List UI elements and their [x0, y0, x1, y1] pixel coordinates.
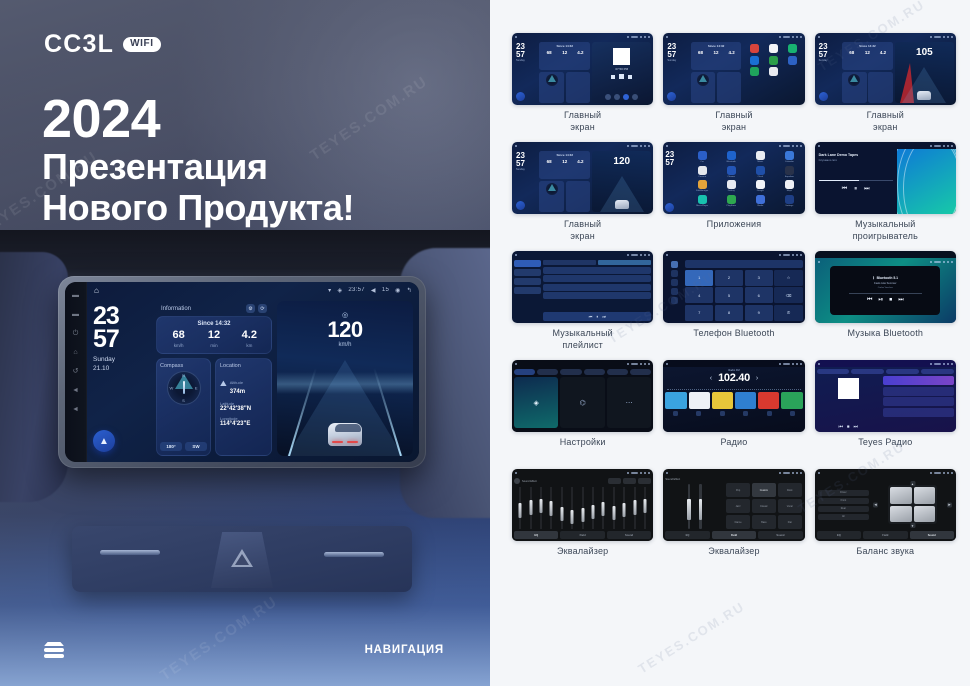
speed-value: 105: [895, 47, 954, 58]
preset-pop[interactable]: Pop: [726, 483, 750, 497]
trip-value: 4.2: [232, 330, 267, 341]
back-icon: [665, 203, 674, 212]
widgets-column: Information ⚙ ⟳ Since 14:32 68: [156, 301, 272, 456]
eq-tabs[interactable]: EQ Field Sound: [514, 531, 651, 539]
gallery-caption: Главныйэкран: [715, 110, 752, 135]
altitude-row: ⛰ Altitude 374m: [220, 371, 267, 397]
list-item[interactable]: [543, 284, 651, 291]
brand-lockup: CC3L WIFI: [44, 32, 161, 57]
wifi-badge: WIFI: [123, 37, 161, 52]
dash-vent-panel: [72, 526, 412, 592]
wifi-icon: ◈: [337, 287, 342, 294]
wifi-icon[interactable]: ◈: [514, 377, 558, 428]
eq-slider[interactable]: [641, 487, 649, 529]
tab-field[interactable]: Field: [560, 531, 604, 539]
volume-value: 15: [382, 287, 389, 293]
previous-icon[interactable]: ⏮: [867, 297, 872, 304]
hazard-triangle-inner-icon: [235, 554, 249, 565]
clock-widget[interactable]: 23 57 Sunday 21.10: [93, 305, 151, 373]
dialpad-key-7[interactable]: 7: [685, 305, 713, 321]
stop-icon[interactable]: ⏹: [889, 297, 892, 304]
preset-dance[interactable]: Dance: [726, 515, 750, 529]
mini-status-bar: [815, 33, 956, 40]
mini-status-bar: [815, 360, 956, 367]
compass-mark-s: S: [182, 398, 185, 403]
mini-status-bar: [512, 469, 653, 476]
hotspot-icon[interactable]: ⌬: [560, 377, 604, 428]
gallery-caption: Музыка Bluetooth: [848, 328, 924, 353]
screen-body: 23 57 Sunday 21.10 ▲ Information: [87, 298, 419, 462]
gallery-caption: Телефон Bluetooth: [693, 328, 774, 353]
mini-status-bar: [815, 258, 956, 265]
bluetooth-icon: ᛒ: [873, 276, 875, 280]
dialpad-key-4[interactable]: 4: [685, 287, 713, 303]
list-item[interactable]: [543, 292, 651, 299]
preset-bass[interactable]: Bass: [752, 515, 776, 529]
apps-widget: [743, 42, 802, 103]
gallery-caption: Эквалайзер: [708, 546, 759, 571]
preset-jazz[interactable]: Jazz: [726, 499, 750, 513]
pause-icon[interactable]: ⏸: [596, 314, 598, 319]
seat-front-left-icon: [890, 487, 911, 503]
play-icon[interactable]: ⏯: [878, 297, 883, 304]
seat-rear-right-icon: [914, 506, 935, 522]
previous-icon[interactable]: ⏮: [838, 424, 843, 430]
phone-number-field[interactable]: [685, 260, 802, 268]
page-title: 2024 Презентация Нового Продукта!: [42, 92, 354, 228]
gallery-item[interactable]: 2357Sunday Since 14:3268124.2 105 Главны…: [815, 33, 956, 135]
next-icon[interactable]: ⏭: [602, 314, 606, 319]
track-title: Feels Like Summer: [874, 282, 896, 285]
preset[interactable]: [712, 392, 733, 409]
search-icon[interactable]: [696, 411, 701, 416]
tab-display[interactable]: [560, 369, 581, 375]
arrow-down-icon[interactable]: ▼: [910, 523, 915, 528]
status-time: 23:57: [348, 287, 365, 293]
app-icon: [785, 180, 794, 189]
screenshot-home-nav[interactable]: 2357Sunday Since 14:3268124.2 120: [512, 142, 653, 214]
eq-band-sliders[interactable]: [514, 484, 651, 531]
app-icon: [756, 180, 765, 189]
mini-status-bar: [512, 142, 653, 149]
tab-apps[interactable]: [584, 369, 605, 375]
car-avatar-icon: [615, 200, 629, 209]
vent-slat: [324, 552, 384, 557]
radio-frequency: 102.40: [718, 372, 750, 384]
dialpad-key-8[interactable]: 8: [715, 305, 743, 321]
camera-icon[interactable]: ◉: [395, 287, 401, 294]
gallery-caption: Главныйэкран: [564, 219, 601, 244]
arrow-right-icon[interactable]: ▶: [947, 502, 952, 507]
preset-rear[interactable]: Rear: [818, 506, 869, 512]
phone-sidebar[interactable]: [665, 260, 683, 321]
mini-status-bar: [512, 33, 653, 40]
tab-field[interactable]: Field: [712, 531, 756, 539]
gear-icon[interactable]: ⚙: [246, 304, 255, 313]
list-item[interactable]: [543, 275, 651, 282]
screenshot-bt-music[interactable]: ᛒ Bluetooth 5.1 Feels Like Summer Carlos…: [815, 251, 956, 323]
compass-title: Compass: [160, 363, 207, 369]
compass-direction: SW: [185, 442, 207, 451]
app-icon: [756, 151, 765, 160]
compass-widget[interactable]: Compass N E S W: [156, 358, 211, 456]
app-icon: [750, 56, 759, 65]
compass-needle-icon: [183, 381, 185, 394]
rds-icon[interactable]: [767, 411, 772, 416]
mini-status-bar: [815, 142, 956, 149]
trip-stat: 12 min: [196, 330, 231, 348]
teyes-radio-tabs[interactable]: [817, 369, 954, 374]
eq-slider[interactable]: [526, 487, 534, 529]
screenshot-settings[interactable]: ◈ ⌬ ⋯: [512, 360, 653, 432]
app-icon: [727, 166, 736, 175]
home-icon[interactable]: ⌂: [71, 348, 80, 357]
tab-about[interactable]: [630, 369, 651, 375]
watermark: TEYES.COM.RU: [635, 599, 747, 677]
gallery-item[interactable]: Dark Lane Demo Tapes Слушаю в сети ⏮ ⏸ ⏭: [815, 142, 956, 244]
navigation-icon: [667, 92, 676, 101]
trip-value: 12: [196, 330, 231, 341]
call-icon[interactable]: ✆: [774, 305, 802, 321]
app-icon: [769, 67, 778, 76]
chevron-right-icon[interactable]: ›: [756, 375, 758, 382]
settings-icon[interactable]: [790, 411, 795, 416]
back-icon[interactable]: ↰: [407, 287, 412, 294]
eq-slider[interactable]: [547, 487, 555, 529]
eq-icon[interactable]: [743, 411, 748, 416]
screenshot-music-playlist[interactable]: ⏮ ⏸ ⏭: [512, 251, 653, 323]
chevron-left-icon[interactable]: ‹: [710, 375, 712, 382]
mini-status-bar: [663, 33, 804, 40]
settings-tabs[interactable]: [514, 369, 651, 375]
eq-tabs[interactable]: EQ Field Sound: [817, 531, 954, 539]
album-art: [613, 48, 630, 65]
screenshot-home-nav-red[interactable]: 2357Sunday Since 14:3268124.2 105: [815, 33, 956, 105]
hardware-key-strip[interactable]: ▬ ▬ ⏻ ⌂ ↺ ◄ ◄: [65, 282, 87, 462]
preset-vocal[interactable]: Vocal: [778, 499, 802, 513]
track-artist: Carlos Vasches: [878, 287, 893, 289]
stop-icon[interactable]: ⏹: [847, 424, 850, 430]
gallery-item[interactable]: 2357Sunday Since 14:3268124.2 07:50 PM Г…: [512, 33, 653, 135]
next-icon[interactable]: ⏭: [898, 297, 903, 304]
clock-minutes: 57: [93, 328, 151, 351]
screenshot-equalizer-2[interactable]: Sound Effect Pop Custom Rock Jazz Classi…: [663, 469, 804, 541]
gallery-caption: Радио: [720, 437, 747, 462]
preset[interactable]: [689, 392, 710, 409]
gallery-item[interactable]: ⏮ ⏸ ⏭ Музыкальныйплейлист: [512, 251, 653, 353]
altitude-value: 374m: [230, 389, 245, 397]
latitude-row: Latitude 22°42'38"N: [220, 401, 267, 414]
gallery-item[interactable]: Driver Front Rear All: [815, 469, 956, 571]
speed-unit: km/h: [277, 342, 413, 348]
tab-field[interactable]: Field: [863, 531, 907, 539]
app-icon: [785, 151, 794, 160]
mute-icon[interactable]: ◄: [71, 405, 80, 414]
visualizer: [897, 149, 956, 214]
arrow-left-icon[interactable]: ◀: [873, 502, 878, 507]
radio-presets[interactable]: [665, 392, 802, 409]
dialpad[interactable]: 1 2 3 ☆ 4 5 6 ⌫ 7 8 9 ✆: [685, 270, 802, 322]
home-icon[interactable]: ⌂: [94, 286, 99, 295]
altitude-label: Altitude: [230, 380, 243, 385]
brand-name: CC3L: [44, 32, 114, 57]
trip-unit: km: [232, 343, 267, 348]
volume-icon: ◀: [371, 287, 376, 294]
bt-player-card: ᛒ Bluetooth 5.1 Feels Like Summer Carlos…: [830, 266, 940, 315]
head-unit-screen[interactable]: ⌂ ▾ ◈ 23:57 ◀ 15 ◉ ↰ 23: [87, 282, 419, 462]
preset-all[interactable]: All: [818, 514, 869, 520]
mountain-icon: ⛰: [220, 379, 227, 389]
app-icon: [698, 166, 707, 175]
screenshot-home-apps[interactable]: 2357Sunday Since 14:3268124.2: [663, 33, 804, 105]
screenshot-music-player[interactable]: Dark Lane Demo Tapes Слушаю в сети ⏮ ⏸ ⏭: [815, 142, 956, 214]
navigation-widget[interactable]: ◎ 120 km/h: [277, 301, 413, 456]
screenshot-bt-phone[interactable]: 1 2 3 ☆ 4 5 6 ⌫ 7 8 9 ✆: [663, 251, 804, 323]
gallery-caption: Музыкальныйплейлист: [552, 328, 612, 353]
tab-system[interactable]: [607, 369, 628, 375]
app-icon: [788, 56, 797, 65]
gallery-caption: Приложения: [707, 219, 762, 244]
volume-up-icon[interactable]: ▬: [71, 291, 80, 300]
list-item[interactable]: [883, 376, 954, 385]
clock-weekday: Sunday: [93, 355, 151, 364]
information-widget[interactable]: Information ⚙ ⟳ Since 14:32 68: [156, 301, 272, 354]
backspace-icon[interactable]: ⌫: [774, 287, 802, 303]
screenshot-teyes-radio[interactable]: ⏮ ⏹ ⏭: [815, 360, 956, 432]
preset-custom[interactable]: Custom: [752, 483, 776, 497]
gallery-caption: Баланс звука: [856, 546, 914, 571]
eq-slider[interactable]: [558, 487, 566, 529]
gallery-grid: 2357Sunday Since 14:3268124.2 07:50 PM Г…: [512, 33, 956, 571]
mic-icon[interactable]: ◄: [71, 386, 80, 395]
compass-dial: N E S W: [167, 371, 201, 405]
gallery-item[interactable]: 2357Sunday Since 14:3268124.2: [663, 33, 804, 135]
car-avatar-icon: [325, 419, 365, 449]
tab-sound[interactable]: Sound: [910, 531, 954, 539]
eq-tabs[interactable]: EQ Field Sound: [665, 531, 802, 539]
mini-status-bar: [663, 360, 804, 367]
balance-presets[interactable]: Driver Front Rear All: [818, 480, 869, 529]
head-unit: ▬ ▬ ⏻ ⌂ ↺ ◄ ◄ ⌂ ▾ ◈ 23:57 ◀: [58, 276, 426, 468]
favorite-icon[interactable]: ☆: [774, 270, 802, 286]
tab-sound[interactable]: Sound: [607, 531, 651, 539]
list-item[interactable]: [883, 387, 954, 396]
previous-icon[interactable]: ⏮: [589, 314, 593, 319]
app-icon: [756, 195, 765, 204]
eq-slider[interactable]: [568, 487, 576, 529]
screenshot-home-music[interactable]: 2357Sunday Since 14:3268124.2 07:50 PM: [512, 33, 653, 105]
tab-eq[interactable]: EQ: [514, 531, 558, 539]
power-icon[interactable]: ⏻: [71, 329, 80, 338]
app-icon: [750, 67, 759, 76]
head-unit-bezel: ▬ ▬ ⏻ ⌂ ↺ ◄ ◄ ⌂ ▾ ◈ 23:57 ◀: [65, 282, 419, 462]
hero-footer: НАВИГАЦИЯ: [0, 642, 490, 658]
tab-sound[interactable]: Sound: [758, 531, 802, 539]
speed-value: 120: [592, 156, 651, 167]
seat-rear-left-icon: [890, 506, 911, 522]
dialpad-key-5[interactable]: 5: [715, 287, 743, 303]
trip-stats: 68 km/h 12 min 4.2: [161, 330, 267, 348]
hazard-button[interactable]: [211, 532, 273, 588]
mini-status-bar: [663, 469, 804, 476]
preset[interactable]: [758, 392, 779, 409]
screenshot-sound-balance[interactable]: Driver Front Rear All: [815, 469, 956, 541]
headline-line-1: Презентация: [42, 147, 354, 188]
preset-classic[interactable]: Classic: [752, 499, 776, 513]
gallery-item[interactable]: 1 2 3 ☆ 4 5 6 ⌫ 7 8 9 ✆: [663, 251, 804, 353]
screenshot-equalizer[interactable]: Sound Effect: [512, 469, 653, 541]
balance-pad[interactable]: ▲ ▼ ◀ ▶: [872, 480, 953, 529]
dialpad-key-9[interactable]: 9: [745, 305, 773, 321]
progress-bar[interactable]: [819, 180, 893, 181]
since-label: Since 14:32: [161, 321, 267, 327]
latitude-value: 22°42'38"N: [220, 406, 267, 414]
location-widget[interactable]: Location ⛰ Altitude 374m: [215, 358, 272, 456]
preset[interactable]: [665, 392, 686, 409]
next-icon[interactable]: ⏭: [864, 186, 869, 193]
trip-unit: km/h: [161, 343, 196, 348]
back-icon[interactable]: ↺: [71, 367, 80, 376]
tuning-scale[interactable]: [667, 385, 800, 390]
navigation-icon: [516, 92, 525, 101]
slider[interactable]: [688, 484, 691, 529]
progress-bar[interactable]: [849, 293, 922, 294]
pause-icon[interactable]: ⏸: [854, 186, 857, 193]
list-item[interactable]: [543, 267, 651, 274]
cabin-diagram: [888, 485, 937, 523]
app-icon: [769, 44, 778, 53]
speed-readout: ◎ 120 km/h: [277, 311, 413, 348]
preset[interactable]: [735, 392, 756, 409]
tab-wifi[interactable]: [514, 369, 535, 375]
layers-icon[interactable]: [44, 642, 64, 658]
arrow-up-icon[interactable]: ▲: [910, 481, 915, 486]
app-icon: [769, 56, 778, 65]
dialpad-key-6[interactable]: 6: [745, 287, 773, 303]
eq-slider[interactable]: [630, 487, 638, 529]
preset-rock[interactable]: Rock: [778, 483, 802, 497]
app-icon: [785, 166, 794, 175]
information-header: Information ⚙ ⟳: [156, 301, 272, 313]
bt-title: Bluetooth 5.1: [877, 276, 898, 280]
app-icon: [698, 151, 707, 160]
vent-slat: [100, 550, 160, 555]
eq-slider[interactable]: [537, 487, 545, 529]
tab-eq[interactable]: EQ: [665, 531, 709, 539]
screenshot-app-drawer[interactable]: 2357 Car Bluetooth Music Calendar Camera…: [663, 142, 804, 214]
navigation-icon[interactable]: ▲: [93, 430, 115, 452]
list-item[interactable]: [883, 397, 954, 406]
bass-treble-sliders[interactable]: [666, 483, 723, 529]
tab-eq[interactable]: EQ: [817, 531, 861, 539]
band-icon[interactable]: [673, 411, 678, 416]
gallery-item[interactable]: ◈ ⌬ ⋯ Настройки: [512, 360, 653, 462]
list-item[interactable]: [883, 408, 954, 417]
gallery-caption: Главныйэкран: [564, 110, 601, 135]
gallery-caption: Teyes Радио: [858, 437, 912, 462]
app-icon: [727, 195, 736, 204]
gallery-item[interactable]: Sound Effect Pop Custom Rock Jazz Classi…: [663, 469, 804, 571]
refresh-icon[interactable]: ⟳: [258, 304, 267, 313]
gallery-item[interactable]: 2357 Car Bluetooth Music Calendar Camera…: [663, 142, 804, 244]
preset[interactable]: [781, 392, 802, 409]
eq-slider[interactable]: [599, 487, 607, 529]
preset-grid[interactable]: Pop Custom Rock Jazz Classic Vocal Dance…: [726, 483, 802, 529]
gallery-item[interactable]: 2357Sunday Since 14:3268124.2 120 Главны…: [512, 142, 653, 244]
navigation-icon: [516, 201, 525, 210]
gallery-item[interactable]: ⏮ ⏹ ⏭ Teyes: [815, 360, 956, 462]
mini-status-bar: [512, 251, 653, 258]
compass-readouts: 180° SW: [160, 442, 207, 451]
app-icon: [788, 44, 797, 53]
compass-heading: 180°: [160, 442, 182, 451]
compass-mark-e: E: [195, 386, 198, 391]
screens-gallery: TEYES.COM.RU TEYES.COM.RU TEYES.COM.RU T…: [490, 0, 970, 686]
previous-icon[interactable]: ⏮: [842, 186, 847, 193]
eq-slider[interactable]: [610, 487, 618, 529]
playlist-sidebar[interactable]: [514, 260, 541, 321]
gallery-item[interactable]: ᛒ Bluetooth 5.1 Feels Like Summer Carlos…: [815, 251, 956, 353]
wifi-icon: ▾: [328, 287, 331, 294]
location-title: Location: [220, 363, 267, 369]
navigation-widget: 105: [895, 42, 954, 103]
music-widget: 07:50 PM: [592, 42, 651, 103]
eq-slider[interactable]: [516, 487, 524, 529]
status-bar: ⌂ ▾ ◈ 23:57 ◀ 15 ◉ ↰: [87, 282, 419, 298]
next-icon[interactable]: ⏭: [853, 424, 858, 430]
eq-slider[interactable]: [620, 487, 628, 529]
mini-status-bar: [663, 251, 804, 258]
lower-widgets: Compass N E S W: [156, 358, 272, 456]
headline-line-2: Нового Продукта!: [42, 188, 354, 229]
dialpad-key-2[interactable]: 2: [715, 270, 743, 286]
car-dashboard-photo: ▬ ▬ ⏻ ⌂ ↺ ◄ ◄ ⌂ ▾ ◈ 23:57 ◀: [0, 248, 490, 686]
app-icon: [750, 44, 759, 53]
trip-stat: 4.2 km: [232, 330, 267, 348]
app-icon: [698, 180, 707, 189]
compass-mark-n: N: [182, 373, 185, 378]
screenshot-radio[interactable]: Radio FM ‹ 102.40 ›: [663, 360, 804, 432]
eq-slider[interactable]: [578, 487, 586, 529]
eq-slider[interactable]: [589, 487, 597, 529]
more-icon[interactable]: ⋯: [607, 377, 651, 428]
app-icon: [698, 195, 707, 204]
speed-value: 120: [277, 319, 413, 341]
slider[interactable]: [699, 484, 702, 529]
footer-nav-label: НАВИГАЦИЯ: [365, 644, 444, 656]
tab-sound[interactable]: [537, 369, 558, 375]
gallery-item[interactable]: Sound Effect: [512, 469, 653, 571]
dialpad-key-3[interactable]: 3: [745, 270, 773, 286]
compass-mark-w: W: [170, 386, 174, 391]
player-controls[interactable]: ⏮ ⏸ ⏭: [543, 312, 651, 321]
volume-down-icon[interactable]: ▬: [71, 310, 80, 319]
longitude-value: 114°4'23"E: [220, 421, 267, 429]
radio-toolbar[interactable]: [665, 411, 802, 416]
information-title: Information: [161, 306, 243, 312]
gallery-item[interactable]: Radio FM ‹ 102.40 ›: [663, 360, 804, 462]
gallery-caption: Настройки: [560, 437, 606, 462]
list-icon[interactable]: [720, 411, 725, 416]
gallery-caption: Главныйэкран: [867, 110, 904, 135]
preset-flat[interactable]: Flat: [778, 515, 802, 529]
track-artist: Слушаю в сети: [819, 159, 893, 162]
dialpad-key-1[interactable]: 1: [685, 270, 713, 286]
mini-status-bar: [815, 469, 956, 476]
mini-status-bar: [663, 142, 804, 149]
preset-front[interactable]: Front: [818, 498, 869, 504]
preset-driver[interactable]: Driver: [818, 490, 869, 496]
